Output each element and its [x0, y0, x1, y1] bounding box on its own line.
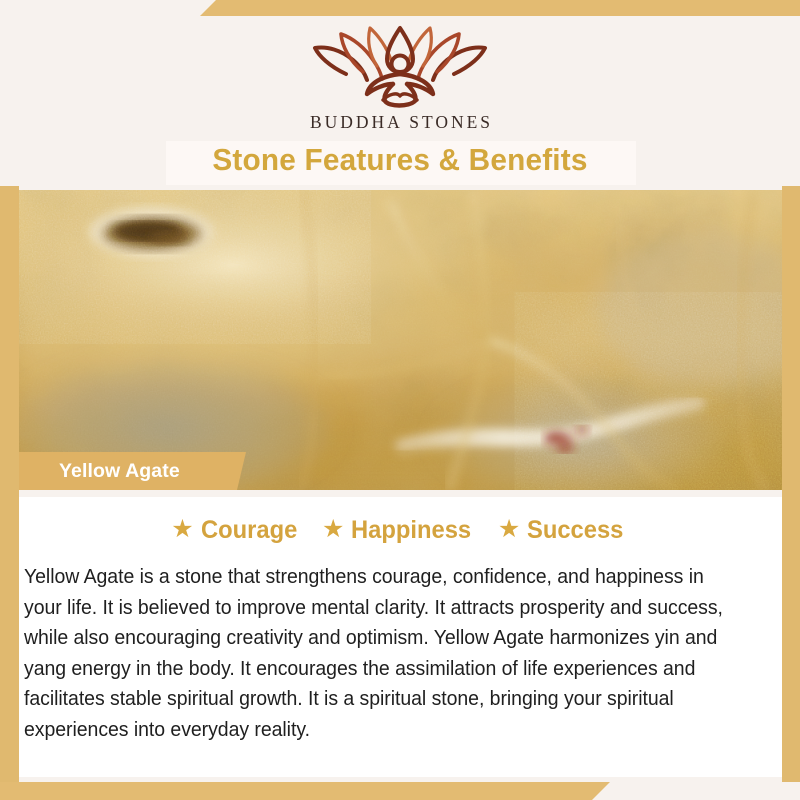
- keyword-item-happiness: ★ Happiness: [322, 516, 478, 545]
- star-icon: ★: [171, 517, 193, 542]
- infographic-page: BUDDHA STONES Stone Features & Benefits: [0, 0, 800, 800]
- left-gold-accent-strip: [0, 186, 19, 782]
- keyword-label: Success: [527, 516, 623, 545]
- lotus-meditation-icon: [305, 22, 495, 110]
- keyword-label: Courage: [201, 516, 297, 545]
- agate-texture-art: [19, 190, 782, 490]
- brand-logo: BUDDHA STONES: [0, 22, 800, 133]
- star-icon: ★: [498, 517, 520, 542]
- keyword-list: ★ Courage ★ Happiness ★ Success: [0, 516, 800, 545]
- keyword-label: Happiness: [351, 516, 471, 545]
- page-title: Stone Features & Benefits: [16, 142, 784, 178]
- header: BUDDHA STONES Stone Features & Benefits: [0, 0, 800, 190]
- keyword-item-success: ★ Success: [498, 516, 629, 545]
- description-text: Yellow Agate is a stone that strengthens…: [24, 562, 742, 745]
- stone-name-label: Yellow Agate: [19, 460, 180, 483]
- stone-name-banner: Yellow Agate: [19, 452, 246, 490]
- right-gold-accent-strip: [782, 186, 800, 782]
- brand-name: BUDDHA STONES: [0, 112, 800, 133]
- stone-image: [19, 190, 782, 490]
- keyword-item-courage: ★ Courage: [171, 516, 302, 545]
- bottom-gold-accent-bar: [0, 782, 610, 800]
- star-icon: ★: [322, 517, 344, 542]
